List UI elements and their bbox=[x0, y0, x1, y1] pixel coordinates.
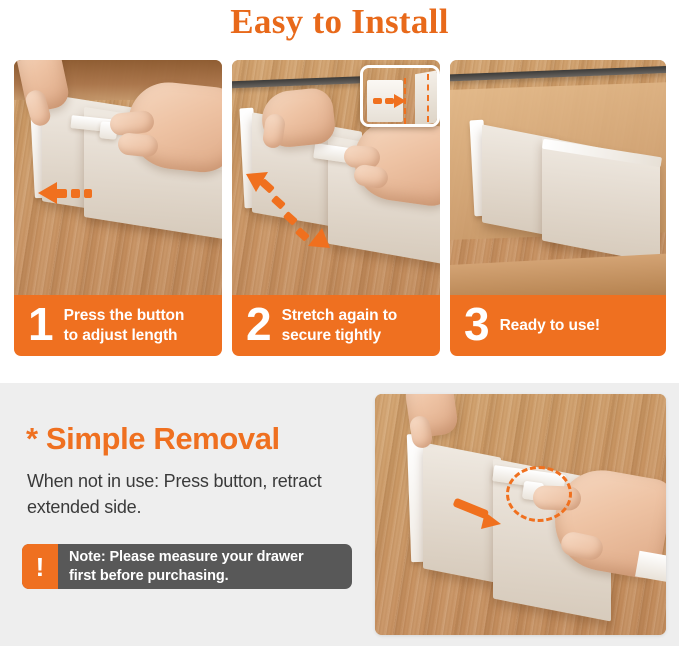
step-1-caption-line1: Press the button bbox=[64, 307, 185, 324]
step-2-banner: 2 Stretch again to secure tightly bbox=[232, 295, 440, 356]
removal-title: * Simple Removal bbox=[26, 421, 280, 457]
step-2-photo bbox=[232, 60, 440, 295]
removal-body-line2: extended side. bbox=[27, 497, 141, 517]
note-text-rest: Please measure your drawer bbox=[106, 549, 304, 565]
step-1-number: 1 bbox=[28, 301, 53, 347]
step-card-1: 1 Press the button to adjust length bbox=[14, 60, 222, 356]
removal-photo bbox=[375, 394, 666, 635]
removal-body-text: When not in use: Press button, retract e… bbox=[27, 468, 367, 520]
step-1-caption: Press the button to adjust length bbox=[64, 306, 185, 345]
inset-dashed-line-2 bbox=[427, 74, 429, 122]
step-1-photo bbox=[14, 60, 222, 295]
step-card-2: 2 Stretch again to secure tightly bbox=[232, 60, 440, 356]
step-1-caption-line2: to adjust length bbox=[64, 327, 178, 344]
note-text: Note: Please measure your drawer first b… bbox=[58, 544, 352, 589]
dashed-circle-highlight bbox=[506, 466, 572, 522]
step-1-banner: 1 Press the button to adjust length bbox=[14, 295, 222, 356]
simple-removal-section: * Simple Removal When not in use: Press … bbox=[0, 383, 679, 646]
step-3-number: 3 bbox=[464, 301, 489, 347]
note-lead: Note: bbox=[69, 549, 106, 565]
inset-right-arrow-icon bbox=[373, 94, 407, 108]
page-title: Easy to Install bbox=[0, 2, 679, 42]
step-2-caption: Stretch again to secure tightly bbox=[282, 306, 398, 345]
double-headed-arrow-icon bbox=[244, 170, 352, 252]
step-card-3: 3 Ready to use! bbox=[450, 60, 666, 356]
exclamation-icon: ! bbox=[22, 544, 58, 589]
left-arrow-icon bbox=[38, 182, 96, 212]
step-2-number: 2 bbox=[246, 301, 271, 347]
step-3-caption-line1: Ready to use! bbox=[500, 317, 600, 334]
step-2-caption-line1: Stretch again to bbox=[282, 307, 398, 324]
install-steps-section: Easy to Install bbox=[0, 0, 679, 383]
step-3-banner: 3 Ready to use! bbox=[450, 295, 666, 356]
note-box: ! Note: Please measure your drawer first… bbox=[22, 544, 352, 589]
note-text-line2: first before purchasing. bbox=[69, 568, 229, 584]
removal-body-line1: When not in use: Press button, retract bbox=[27, 471, 322, 491]
right-arrow-icon bbox=[453, 502, 505, 534]
step-3-caption: Ready to use! bbox=[500, 316, 600, 336]
step-3-photo bbox=[450, 60, 666, 295]
step-2-inset-callout bbox=[360, 65, 440, 127]
step-2-caption-line2: secure tightly bbox=[282, 327, 381, 344]
